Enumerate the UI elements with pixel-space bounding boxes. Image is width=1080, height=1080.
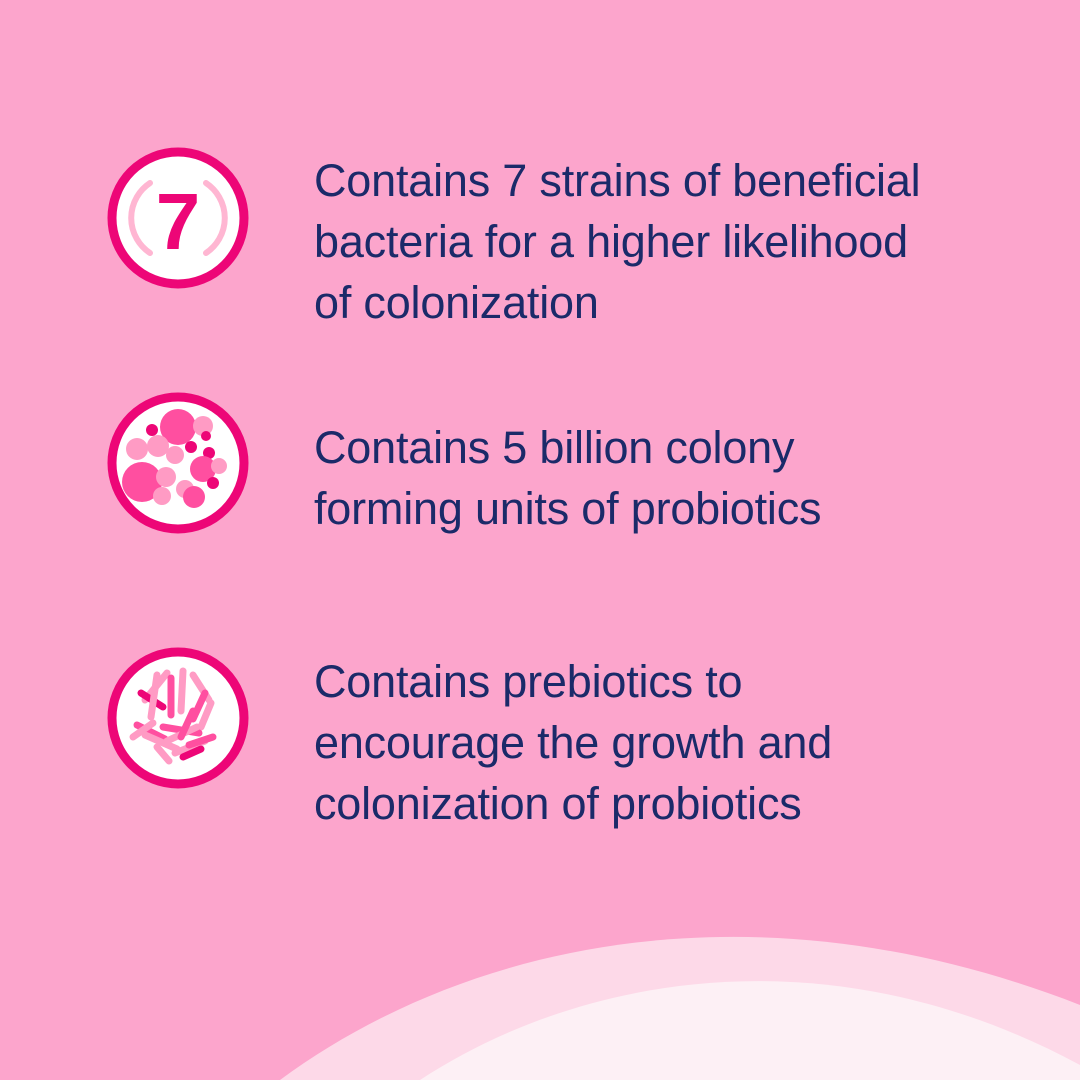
petri-dish-colonies-icon — [105, 390, 251, 536]
seven-in-circle-icon: 7 — [105, 145, 251, 291]
feature-item-strains: 7 Contains 7 strains of beneficial bacte… — [105, 145, 920, 333]
feature-item-prebiotics: Contains prebiotics to encourage the gro… — [105, 645, 832, 834]
feature-item-cfu: Contains 5 billion colony forming units … — [105, 390, 821, 539]
infographic-panel: 7 Contains 7 strains of beneficial bacte… — [0, 0, 1080, 1080]
feature-text-cfu: Contains 5 billion colony forming units … — [314, 417, 821, 539]
feature-text-prebiotics: Contains prebiotics to encourage the gro… — [314, 651, 832, 834]
seven-glyph: 7 — [156, 177, 201, 266]
rod-bacteria-icon — [105, 645, 251, 791]
feature-text-strains: Contains 7 strains of beneficial bacteri… — [314, 150, 920, 333]
feature-list: 7 Contains 7 strains of beneficial bacte… — [0, 0, 1080, 1080]
